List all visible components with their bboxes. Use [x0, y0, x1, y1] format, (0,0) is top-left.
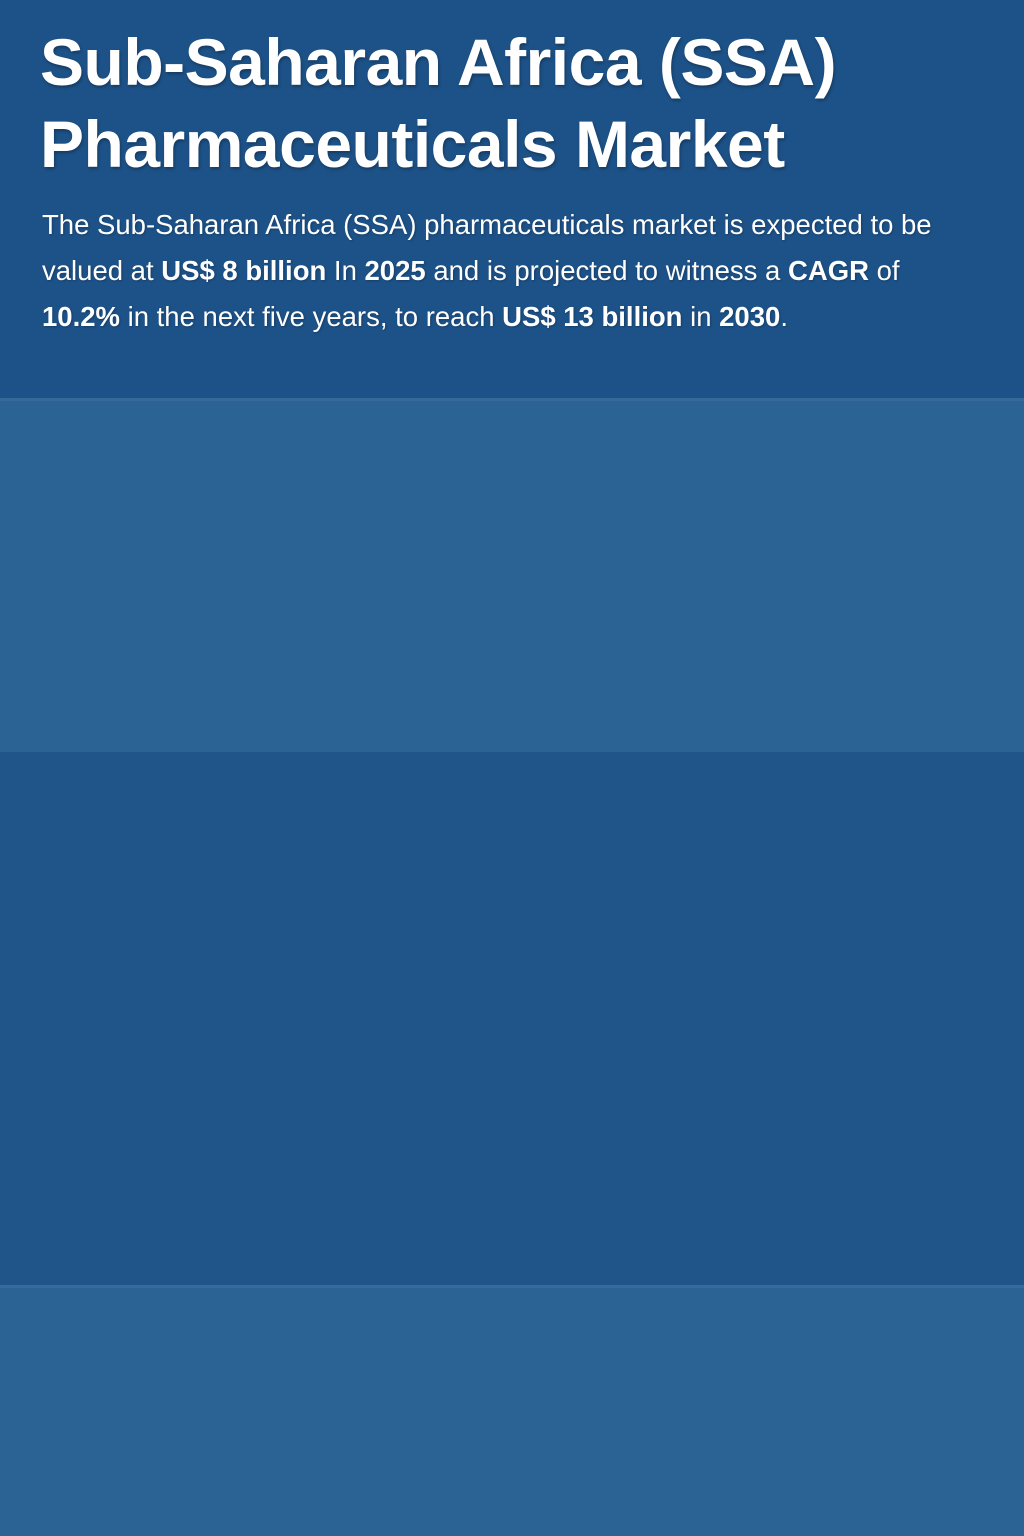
intro-highlight-value-2030: US$ 13 billion [502, 301, 682, 332]
market-overview-band: Market Overview The SSA pharmaceutical m… [0, 398, 1024, 752]
intro-text-4: of [869, 255, 900, 286]
page-title: Sub-Saharan Africa (SSA) Pharmaceuticals… [40, 22, 990, 186]
intro-text-5: in the next five years, to reach [120, 301, 502, 332]
intro-highlight-value-2025: US$ 8 billion [161, 255, 326, 286]
intro-highlight-year-2030: 2030 [719, 301, 780, 332]
intro-text-6: in [682, 301, 719, 332]
intro-highlight-cagr-value: 10.2% [42, 301, 120, 332]
intro-highlight-year-2025: 2025 [365, 255, 426, 286]
infographic-page: Sub-Saharan Africa (SSA) Pharmaceuticals… [0, 0, 1024, 1536]
intro-text-7: . [780, 301, 788, 332]
key-drivers-band: Key Drivers Ongoing epidemiological chan… [0, 752, 1024, 1285]
intro-highlight-cagr-label: CAGR [788, 255, 869, 286]
intro-text-2: In [326, 255, 364, 286]
intro-text-3: and is projected to witness a [426, 255, 788, 286]
header-band: Sub-Saharan Africa (SSA) Pharmaceuticals… [0, 0, 1024, 398]
market-segments-band: Market Segments By Product Generics Inno… [0, 1285, 1024, 1536]
intro-paragraph: The Sub-Saharan Africa (SSA) pharmaceuti… [42, 202, 977, 340]
